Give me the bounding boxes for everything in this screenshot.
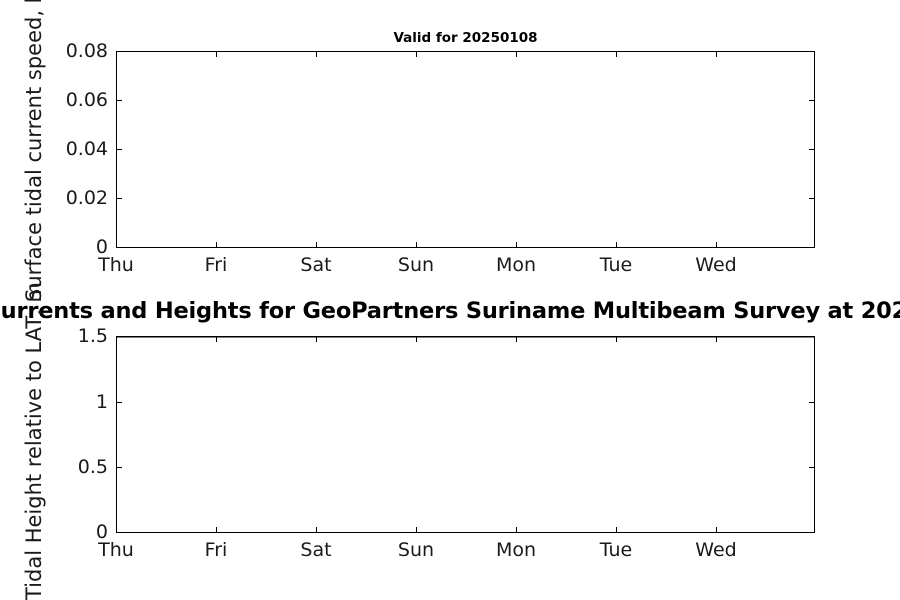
axes-bottom-xtick bbox=[416, 336, 417, 342]
axes-top-ytick-label: 0 bbox=[10, 236, 108, 258]
axes-top-ytick-label: 0.02 bbox=[10, 187, 108, 209]
axes-top-ytick bbox=[116, 198, 122, 199]
axes-bottom-xtick bbox=[116, 527, 117, 533]
axes-bottom-plot-area bbox=[116, 336, 815, 533]
axes-bottom-xtick bbox=[316, 336, 317, 342]
axes-top-ytick bbox=[116, 100, 122, 101]
axes-bottom-xtick bbox=[216, 336, 217, 342]
axes-top-title: Valid for 20250108 bbox=[116, 30, 815, 46]
axes-top-xtick bbox=[316, 51, 317, 57]
axes-bottom-xtick bbox=[216, 527, 217, 533]
axes-top-ytick bbox=[809, 247, 815, 248]
figure-canvas: Valid for 20250108 Surface tidal current… bbox=[0, 0, 900, 600]
axes-bottom-xtick-label: Wed bbox=[695, 539, 736, 561]
axes-bottom-ytick bbox=[116, 402, 122, 403]
axes-top-xtick-label: Sun bbox=[398, 254, 434, 276]
axes-bottom-ytick-label: 1 bbox=[10, 391, 108, 413]
axes-bottom-ytick bbox=[809, 336, 815, 337]
axes-top-xtick bbox=[216, 242, 217, 248]
axes-top-ytick-label: 0.08 bbox=[10, 40, 108, 62]
axes-top-xtick bbox=[416, 51, 417, 57]
axes-top-ytick-label: 0.04 bbox=[10, 138, 108, 160]
axes-top-xtick bbox=[316, 242, 317, 248]
axes-bottom-ytick bbox=[809, 402, 815, 403]
axes-top-ytick-label: 0.06 bbox=[10, 89, 108, 111]
axes-top-xtick bbox=[216, 51, 217, 57]
axes-bottom-xtick bbox=[716, 527, 717, 533]
axes-top-ytick bbox=[809, 100, 815, 101]
axes-bottom-xtick bbox=[516, 527, 517, 533]
axes-bottom-xtick-label: Thu bbox=[98, 539, 134, 561]
axes-bottom-xtick-label: Tue bbox=[600, 539, 632, 561]
axes-bottom-ytick bbox=[116, 467, 122, 468]
axes-top-svg bbox=[117, 52, 815, 248]
axes-top-xtick-label: Sat bbox=[300, 254, 331, 276]
axes-top-ytick bbox=[809, 198, 815, 199]
axes-top-xtick-label: Tue bbox=[600, 254, 632, 276]
axes-bottom-xtick bbox=[416, 527, 417, 533]
axes-top-xtick bbox=[516, 242, 517, 248]
axes-bottom-xtick-label: Sun bbox=[398, 539, 434, 561]
axes-top-xtick bbox=[616, 51, 617, 57]
axes-bottom-ytick-label: 0 bbox=[10, 521, 108, 543]
axes-top-xtick bbox=[716, 51, 717, 57]
axes-top-xtick-label: Fri bbox=[205, 254, 228, 276]
axes-bottom-xtick bbox=[716, 336, 717, 342]
axes-bottom-xtick bbox=[516, 336, 517, 342]
axes-bottom-ytick-label: 1.5 bbox=[10, 325, 108, 347]
figure-title: Tidal Currents and Heights for GeoPartne… bbox=[0, 298, 900, 324]
axes-bottom-xtick-label: Sat bbox=[300, 539, 331, 561]
axes-bottom-xtick bbox=[316, 527, 317, 533]
axes-bottom-svg bbox=[117, 337, 815, 533]
axes-bottom-xtick bbox=[616, 527, 617, 533]
axes-top-xtick bbox=[616, 242, 617, 248]
axes-top-xtick-label: Thu bbox=[98, 254, 134, 276]
axes-bottom-ytick bbox=[809, 467, 815, 468]
axes-bottom-xtick bbox=[116, 336, 117, 342]
axes-top-xtick-label: Wed bbox=[695, 254, 736, 276]
axes-bottom-xtick-label: Fri bbox=[205, 539, 228, 561]
axes-top-xtick bbox=[116, 51, 117, 57]
axes-top-xtick bbox=[516, 51, 517, 57]
axes-bottom-ytick bbox=[809, 532, 815, 533]
axes-top-plot-area bbox=[116, 51, 815, 248]
axes-bottom-ytick-label: 0.5 bbox=[10, 456, 108, 478]
axes-top-xtick bbox=[716, 242, 717, 248]
axes-top-xtick bbox=[416, 242, 417, 248]
axes-bottom-xtick-label: Mon bbox=[496, 539, 536, 561]
axes-top-xtick-label: Mon bbox=[496, 254, 536, 276]
axes-top-ytick bbox=[809, 149, 815, 150]
axes-top-xtick bbox=[116, 242, 117, 248]
axes-top-ytick bbox=[116, 149, 122, 150]
axes-top-ytick bbox=[809, 51, 815, 52]
axes-bottom-xtick bbox=[616, 336, 617, 342]
